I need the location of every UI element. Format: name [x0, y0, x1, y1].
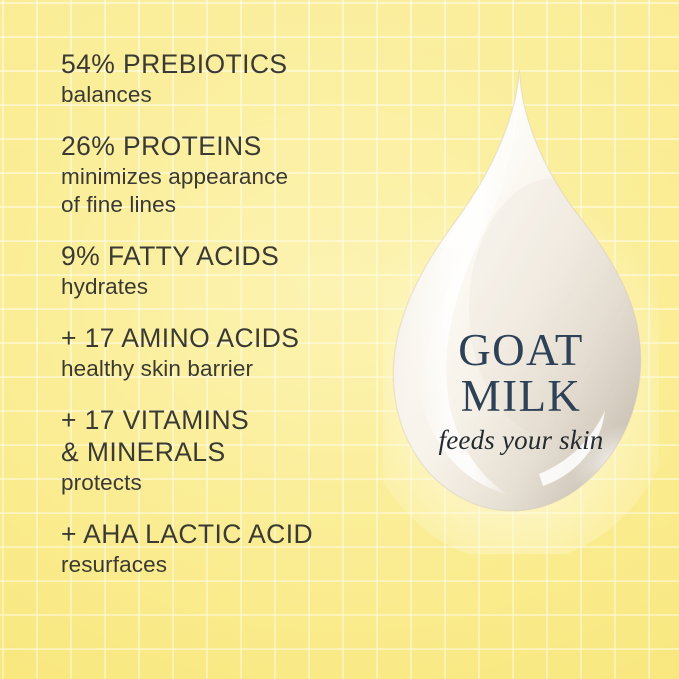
benefit-title: 9% FATTY ACIDS [61, 240, 386, 272]
benefit-title: + AHA LACTIC ACID [61, 518, 386, 550]
list-item: 9% FATTY ACIDS hydrates [61, 240, 386, 301]
benefit-description: resurfaces [61, 551, 386, 579]
benefit-description: hydrates [61, 273, 386, 301]
list-item: 26% PROTEINS minimizes appearance of fin… [61, 130, 386, 219]
benefit-description: protects [61, 469, 386, 497]
benefit-title: 54% PREBIOTICS [61, 48, 386, 80]
milk-droplet-icon [383, 58, 659, 554]
benefit-description: balances [61, 81, 386, 109]
milk-droplet-illustration: GOAT MILK feeds your skin [383, 58, 659, 554]
brand-line-milk: MILK [383, 373, 659, 419]
list-item: + AHA LACTIC ACID resurfaces [61, 518, 386, 579]
list-item: 54% PREBIOTICS balances [61, 48, 386, 109]
brand-line-goat: GOAT [383, 327, 659, 373]
benefit-description: healthy skin barrier [61, 355, 386, 383]
list-item: + 17 VITAMINS & MINERALS protects [61, 404, 386, 497]
benefit-title: + 17 AMINO ACIDS [61, 322, 386, 354]
list-item: + 17 AMINO ACIDS healthy skin barrier [61, 322, 386, 383]
product-benefits-graphic: 54% PREBIOTICS balances 26% PROTEINS min… [0, 0, 679, 679]
benefit-title: + 17 VITAMINS & MINERALS [61, 404, 386, 468]
brand-name: GOAT MILK [383, 327, 659, 419]
benefit-title: 26% PROTEINS [61, 130, 386, 162]
brand-tagline: feeds your skin [383, 425, 659, 455]
benefit-description: minimizes appearance of fine lines [61, 163, 386, 219]
benefits-list: 54% PREBIOTICS balances 26% PROTEINS min… [61, 48, 386, 579]
